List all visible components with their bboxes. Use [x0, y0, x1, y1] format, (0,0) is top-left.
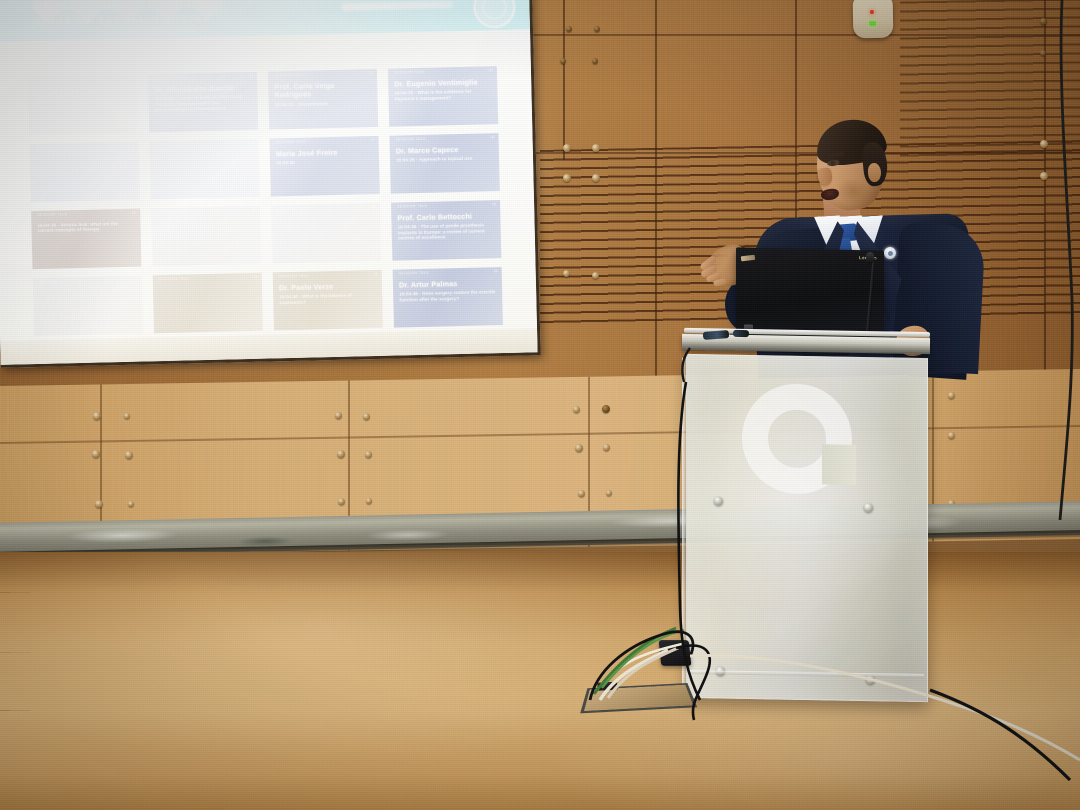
lapel-pin-icon: [884, 247, 896, 259]
card-talk-title: [157, 218, 254, 220]
projection-screen-area: EAU23 ANNUAL CONGRESS SIGNS OF SEXUAL ME…: [0, 0, 547, 376]
card-speaker-name: Dr. Alessandro Zucchi: [154, 84, 251, 95]
card-talk-title: [277, 215, 374, 217]
wall-seam: [563, 0, 565, 160]
c-monogram-logo-icon: [742, 383, 852, 495]
speaker-card[interactable]: SESSION TALK 09 16:04:30 - Venous leak: …: [31, 209, 141, 270]
card-speaker-name: [156, 151, 253, 153]
card-talk-title: 16:04:00 - The world of sexual medicine …: [34, 97, 131, 110]
card-session-label: SESSION TALK: [39, 278, 124, 285]
wall-bolt: [1040, 18, 1047, 25]
card-index: 02: [249, 74, 253, 78]
wainscot-bolt: [337, 450, 345, 458]
wall-sensor-icon: [853, 0, 894, 38]
sensor-green-led: [869, 21, 876, 26]
card-session-label: SESSION TALK: [397, 203, 482, 210]
card-index: 06: [251, 141, 255, 145]
speaker-card-grid: SESSION TALK 01 Prof. Andrea Salonia 16:…: [28, 66, 503, 336]
speaker-card[interactable]: SESSION TALK 07 Maria José Freire 16:04:…: [269, 136, 379, 197]
card-speaker-name: [36, 154, 133, 156]
card-talk-title: 16:04:15 - What is the evidence for Peyr…: [394, 89, 491, 102]
card-session-label: SESSION TALK: [154, 74, 239, 81]
card-speaker-name: Dr. Eugenio Ventimiglia: [394, 78, 491, 89]
wainscot-bolt: [948, 392, 955, 399]
wainscot-bolt: [363, 413, 370, 420]
card-session-label: SESSION TALK: [157, 208, 242, 215]
wall-bolt: [1040, 172, 1048, 180]
card-index: 13: [134, 278, 138, 282]
wall-bolt: [563, 270, 570, 277]
wainscot-bolt: [366, 498, 372, 504]
card-index: 10: [252, 208, 256, 212]
lectern-standoff: [864, 503, 873, 512]
wall-bolt: [1040, 50, 1046, 56]
slide-body: SESSION TALK 01 Prof. Andrea Salonia 16:…: [0, 29, 538, 365]
card-index: 05: [131, 144, 135, 148]
card-index: 08: [490, 135, 494, 139]
finger: [713, 278, 727, 286]
card-session-label: SESSION TALK: [37, 211, 122, 218]
card-session-label: SESSION TALK: [395, 136, 480, 143]
speaker-card[interactable]: SESSION TALK 08 Dr. Marco Capece 16:04:2…: [389, 133, 499, 194]
wainscot-bolt: [335, 412, 342, 419]
card-session-label: SESSION TALK: [274, 71, 359, 78]
wainscot-bolt: [365, 451, 372, 458]
lectern-standoff: [714, 496, 723, 505]
card-talk-title: 16:04:45 - Does surgery restore the erec…: [399, 290, 496, 303]
card-speaker-name: Prof. Carlo Bettocchi: [397, 212, 494, 223]
card-session-label: SESSION TALK: [159, 275, 244, 282]
wall-bolt: [592, 58, 598, 64]
wall-bolt: [560, 58, 566, 64]
wall-bolt: [592, 272, 599, 279]
card-index: 03: [369, 71, 373, 75]
card-talk-title: 16:04:30 - Venous leak: what are the cur…: [37, 221, 134, 234]
card-session-label: SESSION TALK: [394, 69, 479, 76]
card-index: 12: [492, 202, 496, 206]
card-talk-title: 16:04:35 - The use of penile prosthesis …: [398, 223, 495, 241]
card-session-label: SESSION TALK: [156, 141, 241, 148]
card-speaker-name: Dr. Artur Palmas: [399, 279, 496, 290]
speaker-card[interactable]: SESSION TALK 02 Dr. Alessandro Zucchi 16…: [148, 72, 258, 133]
wainscot-bolt: [92, 450, 100, 458]
wainscot-bolt: [128, 501, 134, 507]
card-talk-title: [36, 154, 133, 156]
wainscot-bolt: [602, 405, 610, 413]
wainscot-bolt: [338, 498, 345, 505]
wainscot-bolt: [578, 490, 585, 497]
wall-bolt: [563, 174, 571, 182]
card-talk-title: [156, 151, 253, 153]
card-speaker-name: [39, 288, 136, 290]
card-index: 09: [132, 211, 136, 215]
speaker-card[interactable]: SESSION TALK 01 Prof. Andrea Salonia 16:…: [28, 75, 138, 136]
speaker-card[interactable]: SESSION TALK 05: [30, 142, 140, 203]
speaker-card[interactable]: SESSION TALK 15 Dr. Paolo Verze 16:04:40…: [273, 270, 383, 331]
card-session-label: SESSION TALK: [399, 269, 484, 276]
wainscot-bolt: [606, 490, 612, 496]
wainscot-bolt: [124, 413, 130, 419]
wall-bolt: [594, 26, 600, 32]
card-speaker-name: [277, 215, 374, 217]
eau-wordmark-icon: [341, 1, 453, 11]
card-speaker-name: Prof. Andrea Salonia: [34, 87, 131, 98]
card-speaker-name: Maria José Freire: [276, 148, 373, 159]
card-talk-title: 16:04:10 - Interpretation: [275, 100, 372, 108]
wall-bolt: [1040, 140, 1048, 148]
card-index: 14: [254, 275, 258, 279]
wall-bolt: [563, 144, 571, 152]
card-speaker-name: [159, 285, 256, 287]
sensor-red-led: [870, 10, 874, 14]
cable-connector: [733, 330, 749, 337]
wainscot-bolt: [95, 500, 103, 508]
card-talk-title: 16:04:25 - Approach to topical use: [396, 156, 493, 164]
speaker-card[interactable]: SESSION TALK 03 Prof. Carlo Veiga Rodrig…: [268, 69, 378, 130]
speaker-card[interactable]: SESSION TALK 16 Dr. Artur Palmas 16:04:4…: [393, 267, 503, 328]
card-speaker-name: Prof. Carlo Veiga Rodrigues: [274, 81, 371, 100]
card-talk-title: [159, 285, 256, 287]
card-session-label: SESSION TALK: [36, 144, 121, 151]
card-session-label: SESSION TALK: [34, 77, 119, 84]
wainscot-bolt: [603, 444, 610, 451]
speaker-card[interactable]: SESSION TALK 12 Prof. Carlo Bettocchi 16…: [391, 200, 501, 261]
speaker-card[interactable]: SESSION TALK 14: [153, 273, 263, 334]
speaker-card[interactable]: SESSION TALK 10: [151, 206, 261, 267]
lectern: [686, 354, 928, 702]
wall-bolt: [592, 174, 600, 182]
floor-box-plug: [597, 682, 617, 691]
card-index: 04: [489, 68, 493, 72]
wainscot-bolt: [948, 432, 955, 439]
card-talk-title: [39, 288, 136, 290]
power-brick: [659, 640, 692, 666]
card-index: 07: [371, 138, 375, 142]
card-index: 11: [372, 205, 376, 209]
card-speaker-name: [157, 218, 254, 220]
floor-outlet-box[interactable]: [583, 674, 693, 720]
speaker-card[interactable]: SESSION TALK 06: [150, 139, 260, 200]
card-talk-title: 16:04:20: [276, 158, 373, 166]
wainscot-bolt: [573, 406, 580, 413]
speaker-card[interactable]: SESSION TALK 11: [271, 203, 381, 264]
wainscot-bolt: [125, 451, 133, 459]
cheek-shading: [836, 178, 870, 204]
speaker-card[interactable]: SESSION TALK 04 Dr. Eugenio Ventimiglia …: [388, 66, 498, 127]
laptop-hinge: [741, 255, 756, 262]
congress-seal-icon: [473, 0, 516, 29]
wall-bolt: [592, 144, 600, 152]
microphone-head-icon: [866, 252, 874, 264]
card-session-label: SESSION TALK: [279, 272, 364, 279]
wainscot-bolt: [93, 412, 101, 420]
wainscot-bolt: [575, 444, 583, 452]
card-speaker-name: Dr. Paolo Verze: [279, 282, 376, 293]
photo-scene: EAU23 ANNUAL CONGRESS SIGNS OF SEXUAL ME…: [0, 0, 1080, 810]
card-talk-title: 16:04:40 - What is the balance of treatm…: [279, 292, 376, 305]
wall-bolt: [566, 26, 572, 32]
card-speaker-name: Dr. Marco Capece: [396, 145, 493, 156]
laptop[interactable]: Lenovo: [736, 247, 884, 340]
speaker-card[interactable]: SESSION TALK 13: [33, 276, 143, 337]
card-session-label: SESSION TALK: [276, 138, 361, 145]
card-session-label: SESSION TALK: [277, 205, 362, 212]
card-index: 15: [374, 272, 378, 276]
card-talk-title: 16:04:05 - Are we in front of a fast-foo…: [154, 94, 251, 112]
card-index: 16: [494, 269, 498, 273]
card-index: 01: [129, 77, 133, 81]
projection-screen: EAU23 ANNUAL CONGRESS SIGNS OF SEXUAL ME…: [0, 0, 541, 368]
